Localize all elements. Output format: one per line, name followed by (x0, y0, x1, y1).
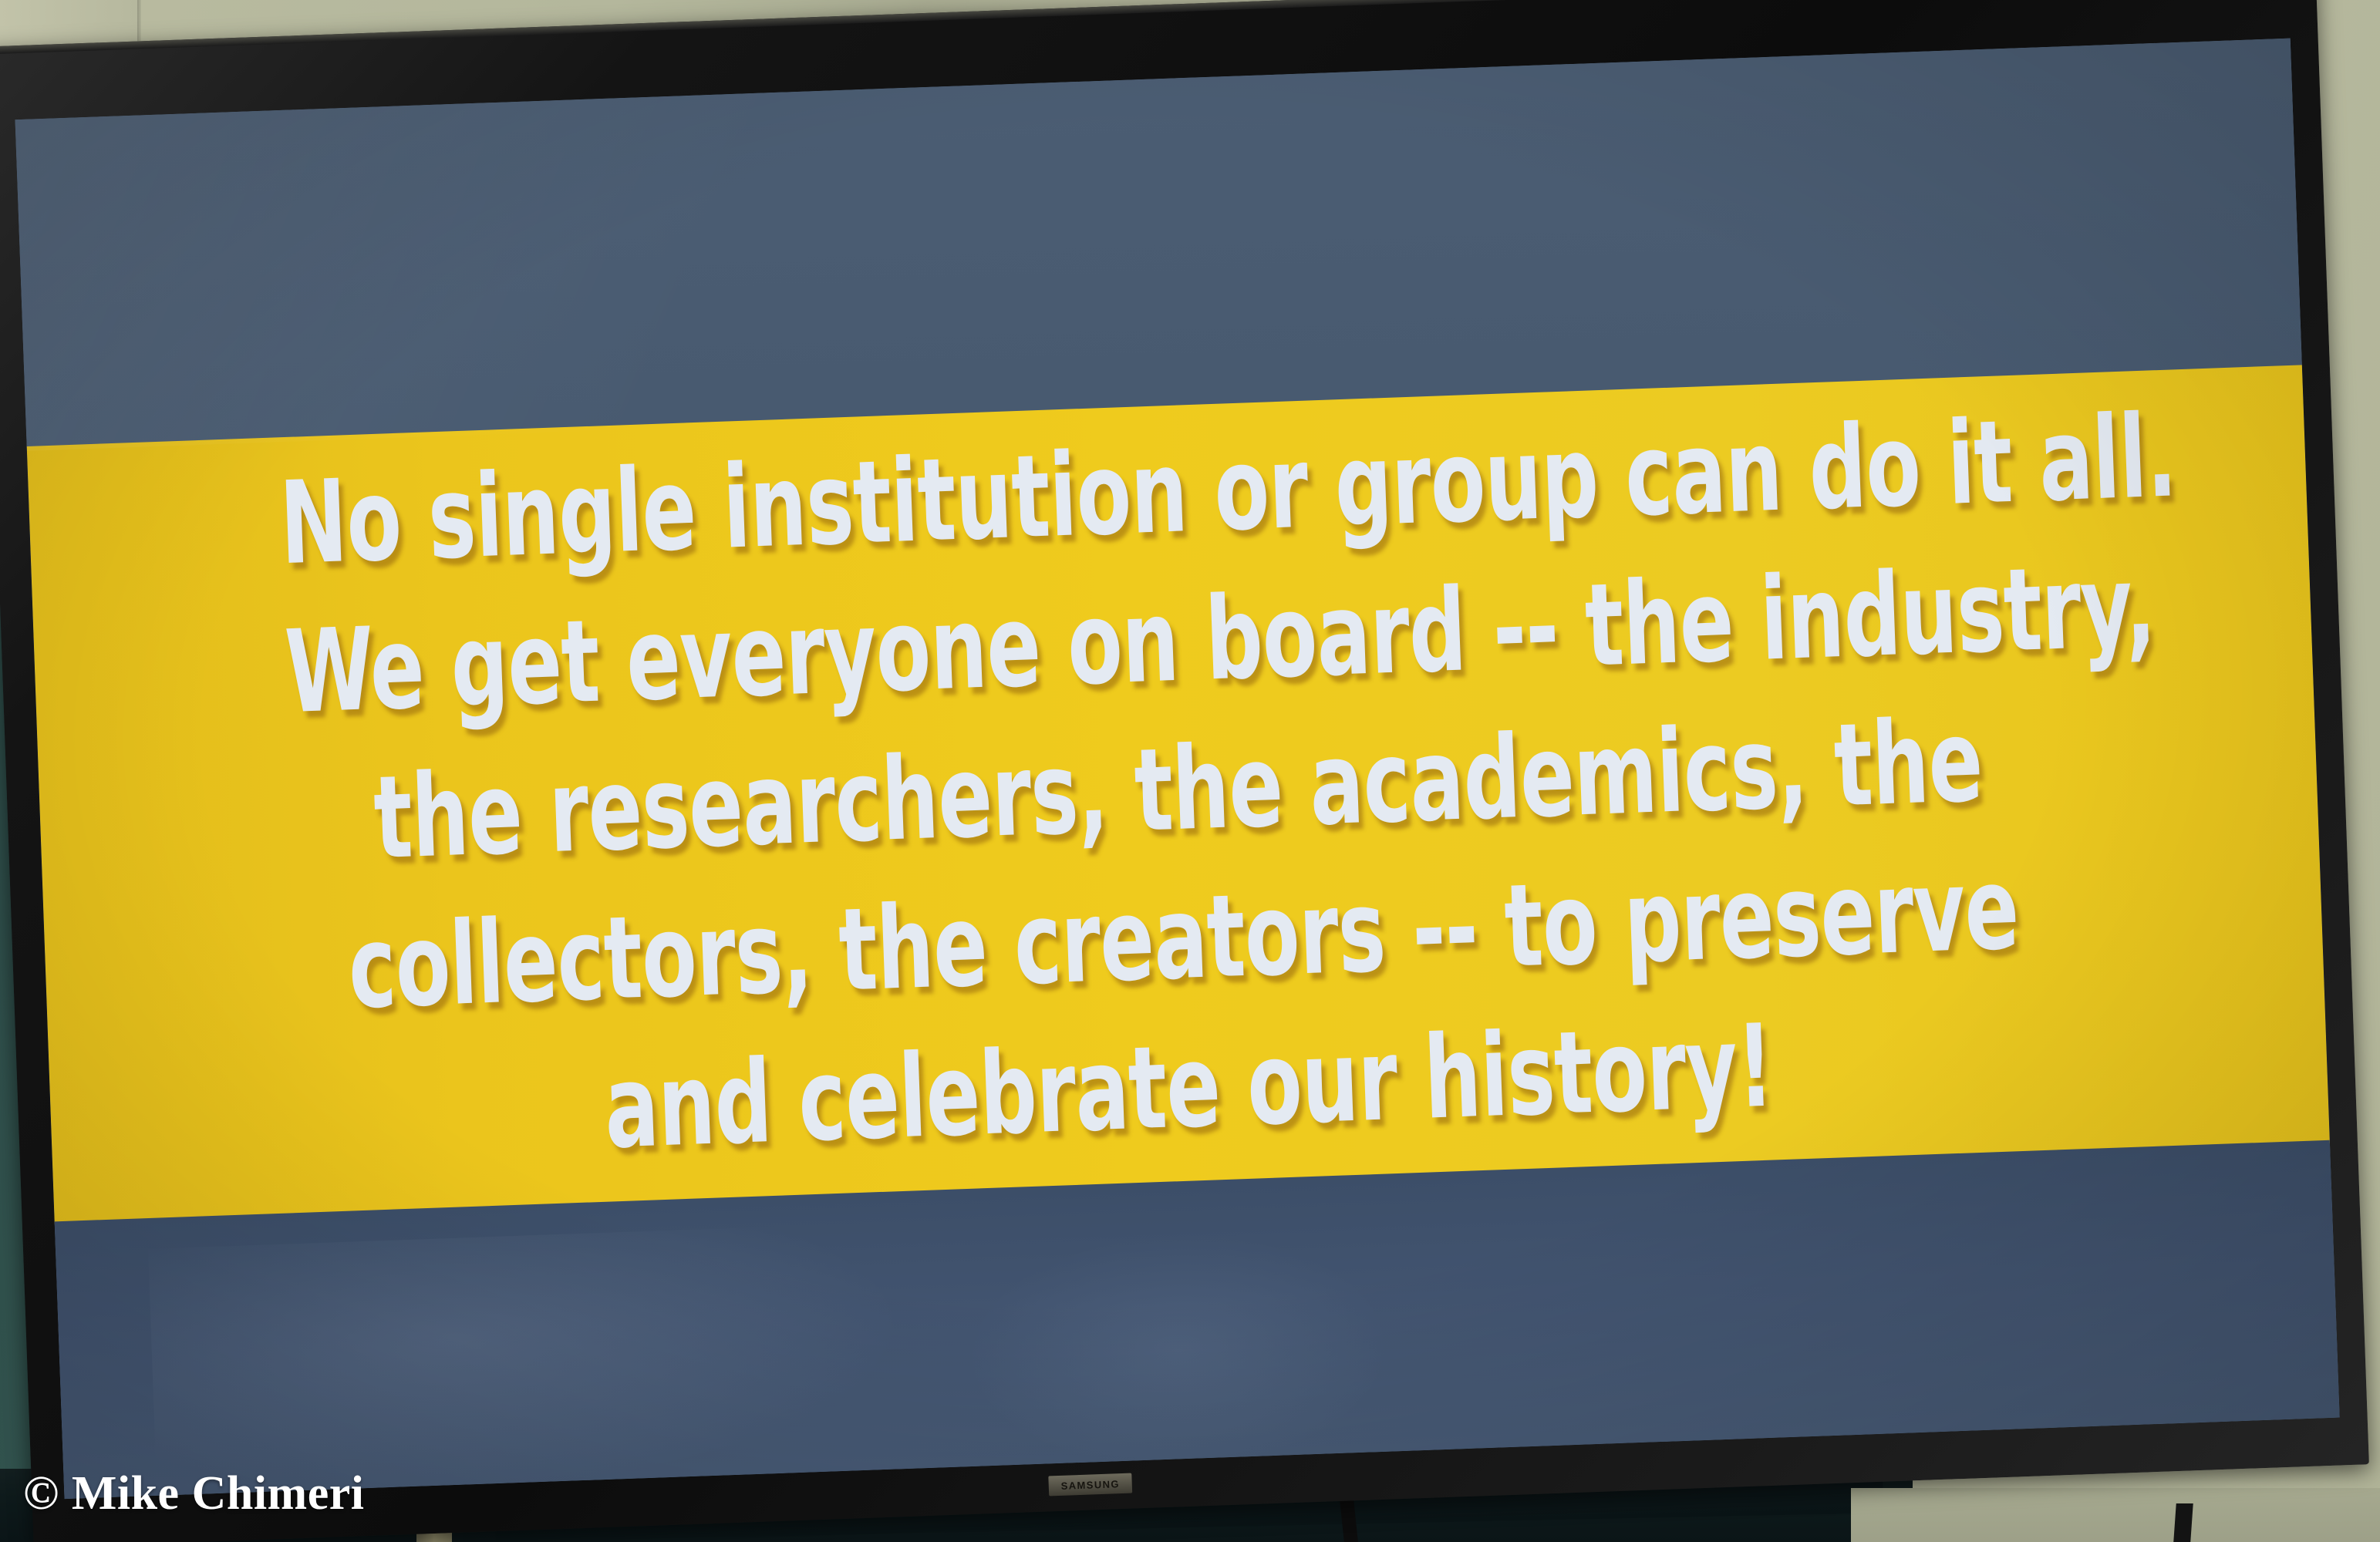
screenshot-root: No single institution or group can do it… (0, 0, 2380, 1542)
display-brand-label: SAMSUNG (1060, 1478, 1120, 1492)
presentation-slide: No single institution or group can do it… (15, 39, 2340, 1499)
photo-watermark: © Mike Chimeri (23, 1466, 364, 1521)
display-brand-badge: SAMSUNG (1048, 1473, 1132, 1497)
display-screen: No single institution or group can do it… (15, 39, 2340, 1499)
wall-mounted-display: No single institution or group can do it… (0, 0, 2369, 1542)
wall-lower-right (1851, 1488, 2380, 1542)
display-stand-leg-right (2173, 1503, 2193, 1542)
slide-quote-text: No single institution or group can do it… (278, 386, 2079, 1194)
